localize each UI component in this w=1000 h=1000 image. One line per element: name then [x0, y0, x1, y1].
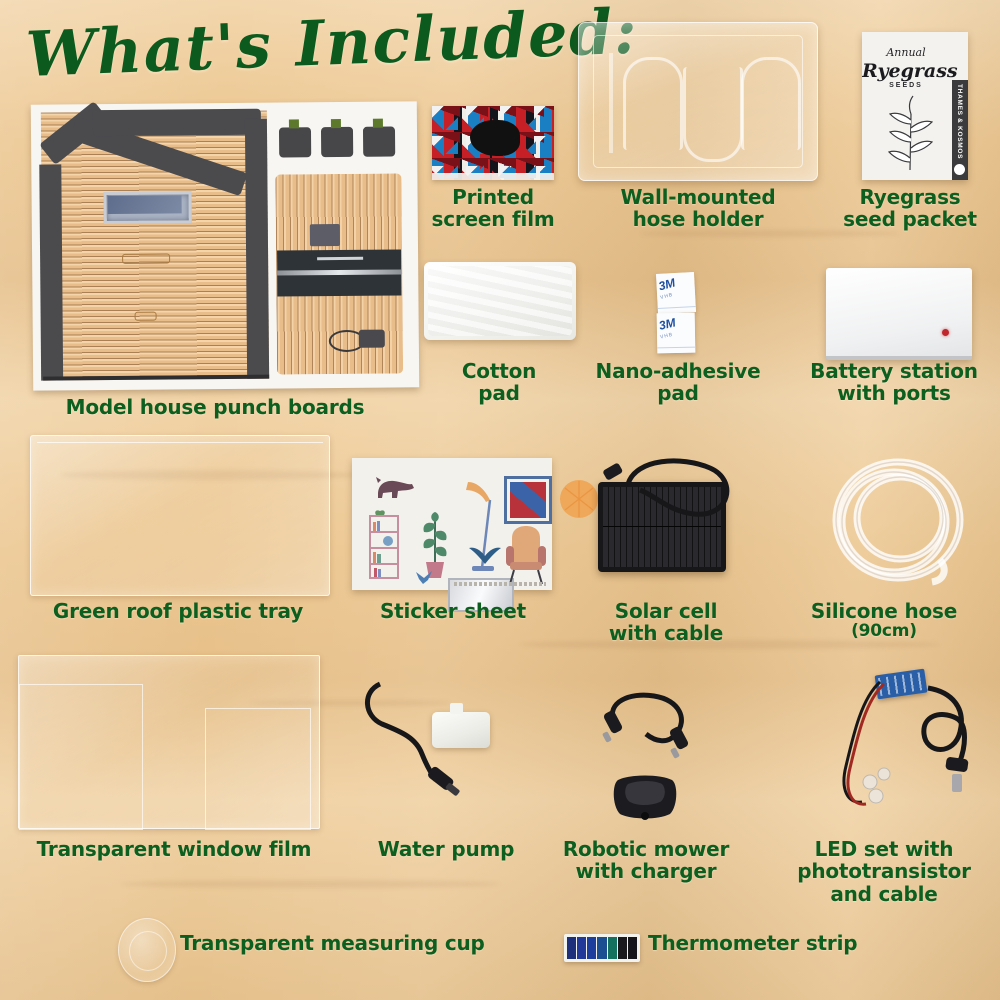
label-line: Water pump — [350, 838, 542, 860]
nano-adhesive-pad: 3M VHB — [656, 272, 696, 314]
solar-cell-cable — [590, 452, 790, 562]
thermometer-segment — [587, 937, 596, 959]
label-line: Cotton — [426, 360, 572, 382]
label-line: Nano-adhesive — [580, 360, 776, 382]
label-line: Robotic mower — [548, 838, 744, 860]
label-line: Ryegrass — [820, 186, 1000, 208]
ryegrass-illustration — [880, 94, 938, 172]
label-wall-mounted-hose-holder: Wall-mounted hose holder — [590, 186, 806, 231]
hose-holder-edge — [609, 53, 613, 153]
label-line: Transparent window film — [0, 838, 348, 860]
punch-board-cutout — [122, 253, 170, 263]
punch-board-cutout — [135, 312, 157, 321]
label-line: Solar cell — [592, 600, 740, 622]
label-line: Thermometer strip — [648, 932, 888, 954]
label-line: Silicone hose — [790, 600, 978, 622]
label-line: Wall-mounted — [590, 186, 806, 208]
seed-packet-line2: Ryegrass — [862, 60, 950, 82]
label-line: seed packet — [820, 208, 1000, 230]
punch-board-base — [43, 375, 269, 381]
led-set-wires — [806, 662, 996, 820]
punch-board-key-piece — [359, 330, 385, 348]
label-line: Battery station — [788, 360, 1000, 382]
thermometer-segment — [567, 937, 576, 959]
label-ryegrass-seed-packet: Ryegrass seed packet — [820, 186, 1000, 231]
label-line: phototransistor — [768, 860, 1000, 882]
window-film-panel — [205, 708, 311, 830]
water-pump-cable — [358, 668, 518, 798]
punch-board-tab — [289, 119, 299, 128]
label-model-house-punch-boards: Model house punch boards — [10, 396, 420, 418]
hose-holder-channel — [683, 67, 743, 162]
punch-board-tab — [373, 119, 383, 128]
label-battery-station: Battery station with ports — [788, 360, 1000, 405]
window-film-panel — [19, 684, 143, 830]
cup-inner-rim — [129, 931, 167, 971]
sticker-framed-art-icon — [504, 476, 552, 524]
label-thermometer-strip: Thermometer strip — [648, 932, 888, 954]
thermometer-strip — [564, 934, 640, 962]
label-line: hose holder — [590, 208, 806, 230]
thermometer-segment — [628, 937, 637, 959]
label-robotic-mower: Robotic mower with charger — [548, 838, 744, 883]
label-line: pad — [580, 382, 776, 404]
thermometer-segment — [608, 937, 617, 959]
thermometer-segments — [567, 937, 637, 959]
label-printed-screen-film: Printed screen film — [420, 186, 566, 231]
film-cat-motif — [470, 120, 520, 156]
seed-packet-line3: SEEDS — [862, 82, 950, 89]
hose-holder-channel — [741, 57, 801, 150]
label-line: Green roof plastic tray — [10, 600, 346, 622]
label-line: Printed — [420, 186, 566, 208]
transparent-measuring-cup — [118, 918, 176, 982]
silicone-hose — [820, 452, 980, 592]
wall-mounted-hose-holder — [578, 22, 818, 181]
label-led-set: LED set with phototransistor and cable — [768, 838, 1000, 905]
label-line: pad — [426, 382, 572, 404]
label-silicone-hose: Silicone hose (90cm) — [790, 600, 978, 641]
label-water-pump: Water pump — [350, 838, 542, 860]
wood-grain-streak — [120, 880, 500, 888]
seed-packet-line1: Annual — [862, 46, 950, 59]
label-cotton-pad: Cotton pad — [426, 360, 572, 405]
model-house-punch-boards — [31, 101, 419, 390]
punch-board-window-glass — [108, 195, 182, 214]
film-footer-strip — [432, 173, 554, 180]
label-line: with charger — [548, 860, 744, 882]
status-led-icon — [942, 329, 949, 336]
label-transparent-window-film: Transparent window film — [0, 838, 348, 860]
sticker-bird-icon — [414, 568, 434, 586]
thermometer-segment — [597, 937, 606, 959]
label-line: (90cm) — [790, 622, 978, 641]
punch-board-ridge — [93, 109, 261, 136]
punch-board-frame-left — [39, 164, 63, 380]
hose-holder-channel — [623, 57, 683, 150]
sticker-bookshelf-icon — [366, 510, 402, 582]
framed-art-image — [510, 482, 546, 518]
sticker-sheet — [352, 458, 552, 590]
thermometer-segment — [577, 937, 586, 959]
label-line: with ports — [788, 382, 1000, 404]
label-transparent-measuring-cup: Transparent measuring cup — [180, 932, 528, 954]
robotic-mower — [608, 772, 682, 822]
ryegrass-seed-packet: Annual Ryegrass SEEDS THAMES & KOSMOS — [862, 32, 968, 180]
thermometer-segment — [618, 937, 627, 959]
label-line: screen film — [420, 208, 566, 230]
label-line: LED set with — [768, 838, 1000, 860]
transparent-window-film — [18, 655, 320, 829]
cotton-pad — [424, 262, 576, 340]
brand-name: THAMES & KOSMOS — [956, 84, 963, 159]
punch-board-bracket — [321, 127, 353, 157]
punch-board-bracket — [363, 127, 395, 157]
punch-board-strip-mark — [317, 257, 363, 260]
label-nano-adhesive-pad: Nano-adhesive pad — [580, 360, 776, 405]
label-line: Sticker sheet — [360, 600, 546, 622]
cotton-texture — [428, 266, 572, 336]
label-line: and cable — [768, 883, 1000, 905]
label-solar-cell: Solar cell with cable — [592, 600, 740, 645]
label-line: Transparent measuring cup — [180, 932, 528, 954]
tray-inner-rim — [37, 442, 323, 451]
wood-grain-streak — [640, 230, 900, 237]
label-sticker-sheet: Sticker sheet — [360, 600, 546, 622]
label-green-roof-plastic-tray: Green roof plastic tray — [10, 600, 346, 622]
punch-board-tab — [331, 119, 341, 128]
sticker-sheet-fineprint — [454, 582, 546, 586]
sticker-cat-icon — [372, 472, 416, 500]
punch-board-strip-highlight — [277, 269, 401, 275]
punch-board-frame-right — [245, 119, 269, 379]
label-line: Model house punch boards — [10, 396, 420, 418]
nano-adhesive-pad: 3M VHB — [657, 313, 696, 354]
label-line: with cable — [592, 622, 740, 644]
sticker-flying-bird-icon — [468, 544, 502, 566]
punch-board-door-part — [310, 224, 340, 246]
sticker-armchair-icon — [504, 524, 548, 586]
green-roof-plastic-tray — [30, 435, 330, 596]
brand-logo-icon — [954, 164, 965, 175]
printed-screen-film — [432, 106, 554, 180]
punch-board-bracket — [279, 127, 311, 157]
battery-station-with-ports — [826, 268, 972, 360]
